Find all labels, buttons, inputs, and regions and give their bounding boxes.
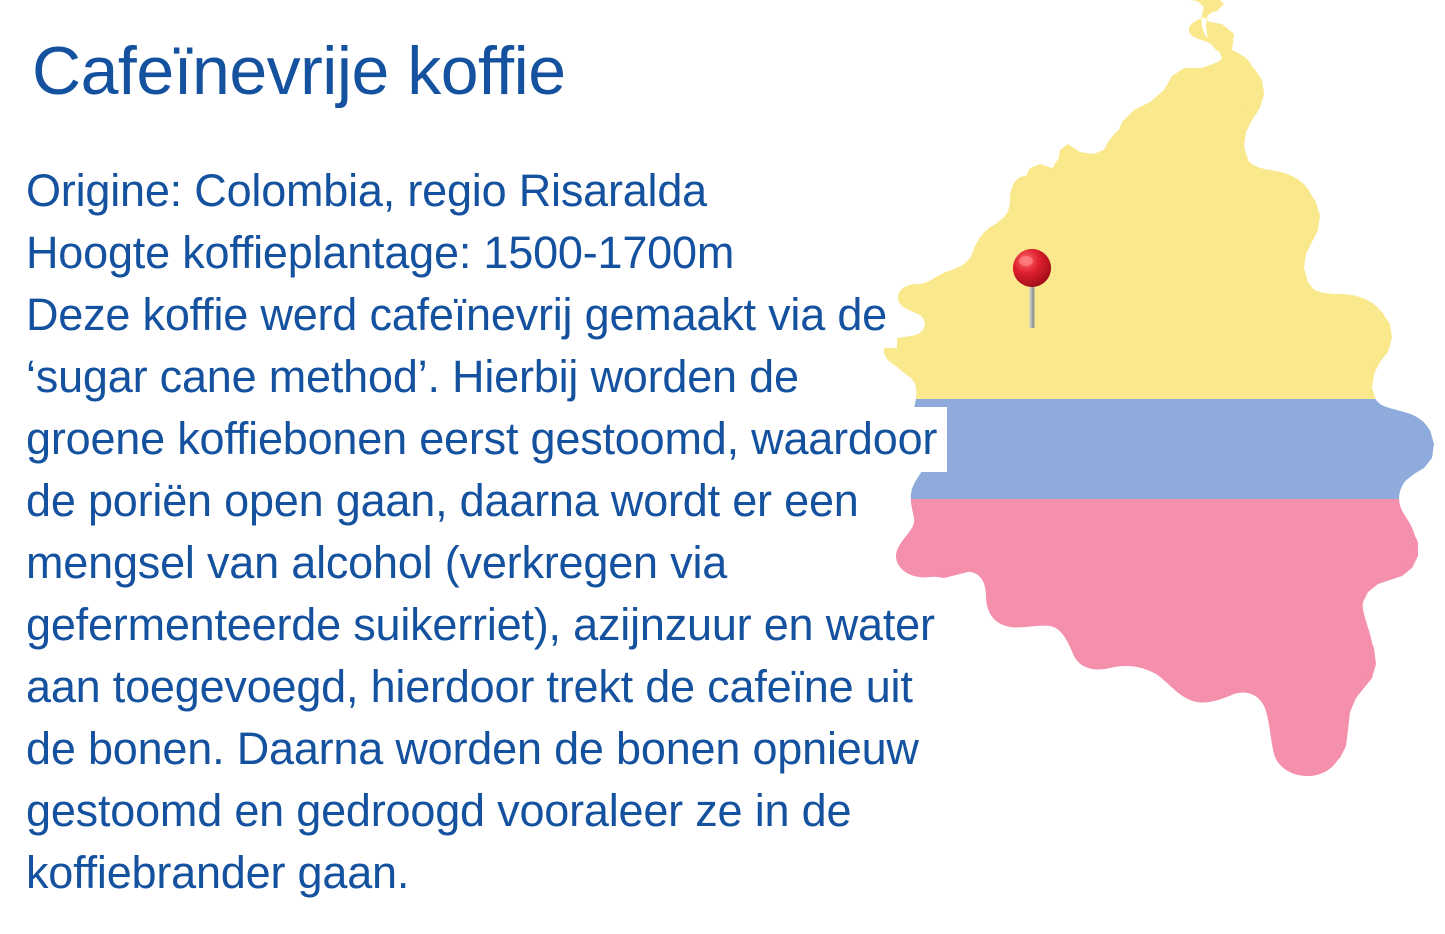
text-line: ‘sugar cane method’. Hierbij worden de bbox=[20, 346, 1080, 408]
page-title: Cafeïnevrije koffie bbox=[26, 30, 578, 116]
text-line: Deze koffie werd cafeïnevrij gemaakt via… bbox=[20, 284, 1080, 346]
text-line-content: koffiebrander gaan. bbox=[20, 841, 419, 906]
text-line: de poriën open gaan, daarna wordt er een bbox=[20, 470, 1080, 532]
text-line: gefermenteerde suikerriet), azijnzuur en… bbox=[20, 594, 1080, 656]
text-line-content: Deze koffie werd cafeïnevrij gemaakt via… bbox=[20, 283, 897, 348]
text-line: aan toegevoegd, hierdoor trekt de cafeïn… bbox=[20, 656, 1080, 718]
text-line-content: Hoogte koffieplantage: 1500-1700m bbox=[20, 221, 744, 286]
text-line-content: ‘sugar cane method’. Hierbij worden de bbox=[20, 345, 809, 410]
text-line-content: groene koffiebonen eerst gestoomd, waard… bbox=[20, 407, 947, 472]
body-text-block: Origine: Colombia, regio Risaralda Hoogt… bbox=[20, 160, 1080, 904]
text-line-content: Origine: Colombia, regio Risaralda bbox=[20, 159, 717, 224]
text-line: Hoogte koffieplantage: 1500-1700m bbox=[20, 222, 1080, 284]
text-line: gestoomd en gedroogd vooraleer ze in de bbox=[20, 780, 1080, 842]
text-line-content: gestoomd en gedroogd vooraleer ze in de bbox=[20, 779, 861, 844]
text-line-content: aan toegevoegd, hierdoor trekt de cafeïn… bbox=[20, 655, 923, 720]
text-line: mengsel van alcohol (verkregen via bbox=[20, 532, 1080, 594]
text-line: de bonen. Daarna worden de bonen opnieuw bbox=[20, 718, 1080, 780]
text-line-content: mengsel van alcohol (verkregen via bbox=[20, 531, 737, 596]
text-line-content: de poriën open gaan, daarna wordt er een bbox=[20, 469, 869, 534]
text-line-content: gefermenteerde suikerriet), azijnzuur en… bbox=[20, 593, 945, 658]
text-line-content: de bonen. Daarna worden de bonen opnieuw bbox=[20, 717, 929, 782]
slide-canvas: Cafeïnevrije koffie Origine: Colombia, r… bbox=[0, 0, 1445, 934]
text-line: Origine: Colombia, regio Risaralda bbox=[20, 160, 1080, 222]
text-line: koffiebrander gaan. bbox=[20, 842, 1080, 904]
text-line: groene koffiebonen eerst gestoomd, waard… bbox=[20, 408, 1080, 470]
